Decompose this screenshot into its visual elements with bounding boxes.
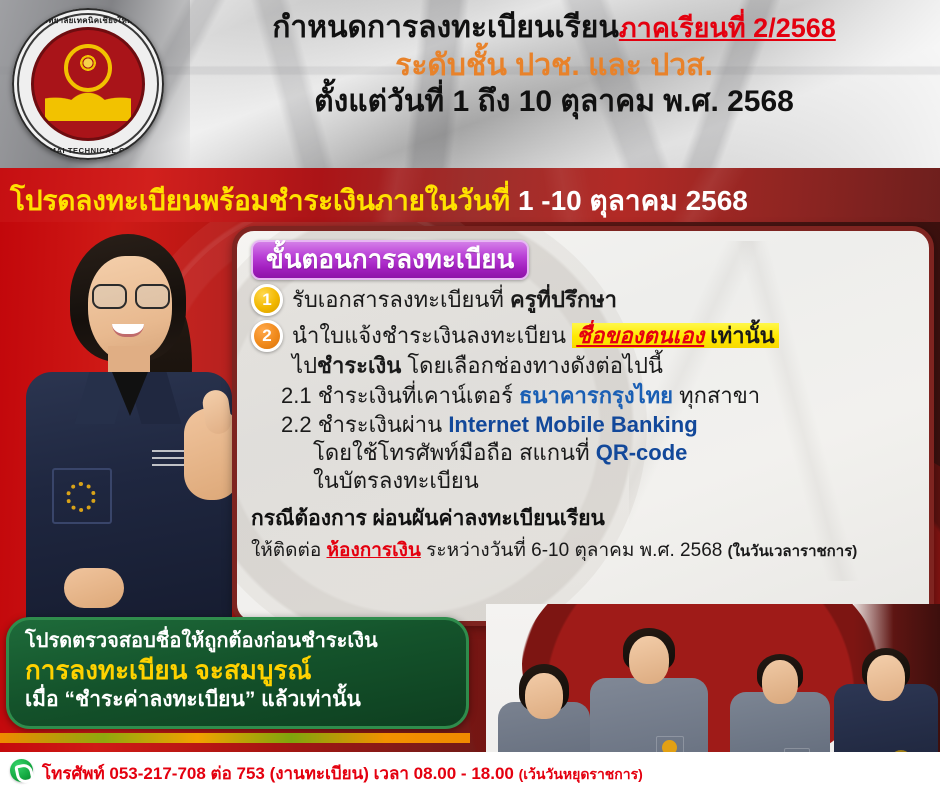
title-line-1-highlight: ภาคเรียนที่ 2/2568 (619, 13, 836, 43)
red-announcement-banner: โปรดลงทะเบียนพร้อมชำระเงินภายในวันที่1 -… (0, 168, 940, 224)
poster-root: วิทยาลัยเทคนิคเชียงใหม่ ทุ. ส. นิ. ม. CH… (0, 0, 940, 788)
step-1-text: รับเอกสารลงทะเบียนที่ ครูที่ปรึกษา (292, 284, 617, 314)
header-title-group: กำหนดการลงทะเบียนเรียนภาคเรียนที่ 2/2568… (176, 11, 932, 119)
pay21-bank-name: ธนาคารกรุงไทย (519, 383, 673, 408)
step-2-sub-rest: โดยเลือกช่องทางดังต่อไปนี้ (401, 353, 663, 378)
green-box-line-2: การลงทะเบียน จะสมบูรณ์ (25, 654, 452, 686)
pay22-prefix: 2.2 ชำระเงินผ่าน (281, 412, 448, 437)
registration-steps-panel: ขั้นตอนการลงทะเบียน 1 รับเอกสารลงทะเบียน… (232, 226, 934, 626)
poster-header: วิทยาลัยเทคนิคเชียงใหม่ ทุ. ส. นิ. ม. CH… (0, 0, 940, 168)
bottom-gradient-strip (0, 733, 470, 743)
step-1-text-bold: ครูที่ปรึกษา (510, 287, 617, 312)
green-box-line-1: โปรดตรวจสอบชื่อให้ถูกต้องก่อนชำระเงิน (25, 629, 452, 653)
qr-code-label: QR-code (596, 440, 688, 465)
deferral-sub-prefix: ให้ติดต่อ (251, 540, 327, 561)
eyeglasses-icon (92, 284, 170, 306)
college-seal-logo: วิทยาลัยเทคนิคเชียงใหม่ ทุ. ส. นิ. ม. CH… (12, 8, 164, 160)
title-line-2: ระดับชั้น ปวช. และ ปวส. (176, 49, 932, 83)
finance-office-link: ห้องการเงิน (327, 540, 421, 561)
step-2-own-name-emphasis: ชื่อของตนเอง (576, 323, 704, 348)
steps-heading: ขั้นตอนการลงทะเบียน (251, 240, 529, 280)
deferral-subtext: ให้ติดต่อ ห้องการเงิน ระหว่างวันที่ 6-10… (251, 535, 915, 565)
panel-content: ขั้นตอนการลงทะเบียน 1 รับเอกสารลงทะเบียน… (237, 231, 929, 565)
student-4-face (867, 655, 905, 701)
step-badge-1: 1 (251, 284, 283, 316)
student-photo-left (8, 232, 246, 624)
pay21-suffix: ทุกสาขา (673, 383, 760, 408)
student-1-face (525, 673, 563, 719)
payment-option-2-1: 2.1 ชำระเงินที่เคาน์เตอร์ ธนาคารกรุงไทย … (281, 381, 915, 410)
seal-emblem-icon: ทุ. ส. นิ. ม. (31, 27, 145, 141)
step-2-text-after: เท่านั้น (704, 323, 775, 348)
seal-english-text: CHIANGMAI TECHNICAL COLLEGE (12, 146, 164, 155)
title-line-1-main: กำหนดการลงทะเบียนเรียน (272, 11, 619, 44)
step-2-sub-bold: ชำระเงิน (317, 353, 401, 378)
payment-option-2-2-line2: โดยใช้โทรศัพท์มือถือ สแกนที่ QR-code (313, 439, 915, 468)
phone-icon (10, 759, 33, 782)
seal-sub-text: ทุ. ส. นิ. ม. (34, 101, 142, 114)
deferral-sub-note: (ในวันเวลาราชการ) (728, 543, 858, 560)
student-3-face (762, 660, 798, 704)
step-1-text-plain: รับเอกสารลงทะเบียนที่ (292, 287, 510, 312)
payment-option-2-2: 2.2 ชำระเงินผ่าน Internet Mobile Banking (281, 410, 915, 439)
footer-contact-main: โทรศัพท์ 053-217-708 ต่อ 753 (งานทะเบียน… (42, 764, 519, 783)
pay21-prefix: 2.1 ชำระเงินที่เคาน์เตอร์ (281, 383, 519, 408)
student-lower-hand (64, 568, 124, 608)
title-line-3: ตั้งแต่วันที่ 1 ถึง 10 ตุลาคม พ.ศ. 2568 (176, 85, 932, 119)
student-2-face (629, 636, 669, 684)
deferral-sub-mid: ระหว่างวันที่ 6-10 ตุลาคม พ.ศ. 2568 (421, 540, 728, 561)
payment-option-2-2-line3: ในบัตรลงทะเบียน (313, 467, 915, 496)
step-2-text: นำใบแจ้งชำระเงินลงทะเบียน ชื่อของตนเอง เ… (292, 320, 779, 350)
footer-contact-text: โทรศัพท์ 053-217-708 ต่อ 753 (งานทะเบียน… (42, 760, 643, 787)
green-box-line-3: เมื่อ “ชำระค่าลงทะเบียน” แล้วเท่านั้น (25, 687, 452, 713)
deferral-heading: กรณีต้องการ ผ่อนผันค่าลงทะเบียนเรียน (251, 502, 915, 535)
seal-thai-text: วิทยาลัยเทคนิคเชียงใหม่ (12, 14, 164, 27)
pay22-line2-prefix: โดยใช้โทรศัพท์มือถือ สแกนที่ (313, 440, 596, 465)
step-row-2: 2 นำใบแจ้งชำระเงินลงทะเบียน ชื่อของตนเอง… (251, 320, 915, 352)
pay22-channel: Internet Mobile Banking (448, 412, 697, 437)
gear-emblem-icon (66, 482, 96, 512)
poster-footer: โทรศัพท์ 053-217-708 ต่อ 753 (งานทะเบียน… (0, 752, 940, 788)
step-row-1: 1 รับเอกสารลงทะเบียนที่ ครูที่ปรึกษา (251, 284, 915, 316)
step-2-subline: ไปชำระเงิน โดยเลือกช่องทางดังต่อไปนี้ (292, 352, 915, 381)
step-2-sub-prefix: ไป (292, 353, 317, 378)
title-line-1: กำหนดการลงทะเบียนเรียนภาคเรียนที่ 2/2568 (176, 11, 932, 45)
step-2-text-plain: นำใบแจ้งชำระเงินลงทะเบียน (292, 323, 572, 348)
step-badge-2: 2 (251, 320, 283, 352)
banner-text-group: โปรดลงทะเบียนพร้อมชำระเงินภายในวันที่1 -… (10, 179, 748, 223)
banner-text-yellow: โปรดลงทะเบียนพร้อมชำระเงินภายในวันที่ (10, 185, 510, 216)
footer-contact-note: (เว้นวันหยุดราชการ) (519, 766, 643, 782)
confirmation-notice-box: โปรดตรวจสอบชื่อให้ถูกต้องก่อนชำระเงิน กา… (6, 617, 469, 729)
step-2-highlight-wrap: ชื่อของตนเอง เท่านั้น (572, 323, 779, 348)
banner-text-white: 1 -10 ตุลาคม 2568 (518, 185, 748, 216)
